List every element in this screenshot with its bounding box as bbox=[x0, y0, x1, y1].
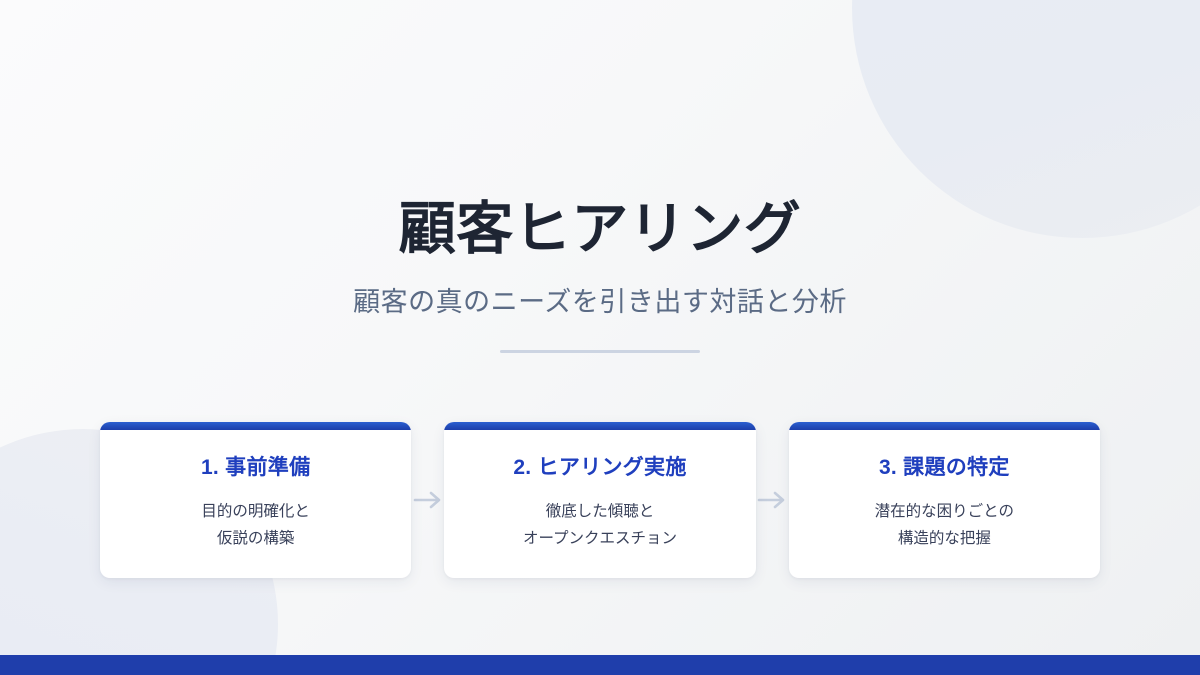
card-accent-bar bbox=[789, 422, 1100, 430]
slide-header: 顧客ヒアリング 顧客の真のニーズを引き出す対話と分析 bbox=[0, 196, 1200, 353]
page-subtitle: 顧客の真のニーズを引き出す対話と分析 bbox=[0, 285, 1200, 320]
arrow-right-icon bbox=[756, 422, 789, 578]
step-card-body: 潜在的な困りごとの 構造的な把握 bbox=[875, 498, 1014, 552]
step-card-2[interactable]: 2. ヒアリング実施 徹底した傾聴と オープンクエスチョン bbox=[444, 422, 755, 578]
card-accent-bar bbox=[444, 422, 755, 430]
step-card-heading: 3. 課題の特定 bbox=[879, 455, 1010, 481]
page-title: 顧客ヒアリング bbox=[0, 196, 1200, 263]
arrow-right-icon bbox=[411, 422, 444, 578]
title-divider bbox=[500, 350, 700, 353]
footer-accent-bar bbox=[0, 655, 1200, 675]
step-card-1[interactable]: 1. 事前準備 目的の明確化と 仮説の構築 bbox=[100, 422, 411, 578]
step-card-row: 1. 事前準備 目的の明確化と 仮説の構築 2. ヒアリング実施 徹底した傾聴と… bbox=[100, 422, 1100, 578]
step-card-body: 徹底した傾聴と オープンクエスチョン bbox=[523, 498, 677, 552]
step-card-heading: 1. 事前準備 bbox=[201, 455, 310, 481]
step-card-body: 目的の明確化と 仮説の構築 bbox=[201, 498, 310, 552]
slide-canvas: 顧客ヒアリング 顧客の真のニーズを引き出す対話と分析 1. 事前準備 目的の明確… bbox=[0, 0, 1200, 675]
step-card-3[interactable]: 3. 課題の特定 潜在的な困りごとの 構造的な把握 bbox=[789, 422, 1100, 578]
card-accent-bar bbox=[100, 422, 411, 430]
step-card-heading: 2. ヒアリング実施 bbox=[513, 455, 686, 481]
